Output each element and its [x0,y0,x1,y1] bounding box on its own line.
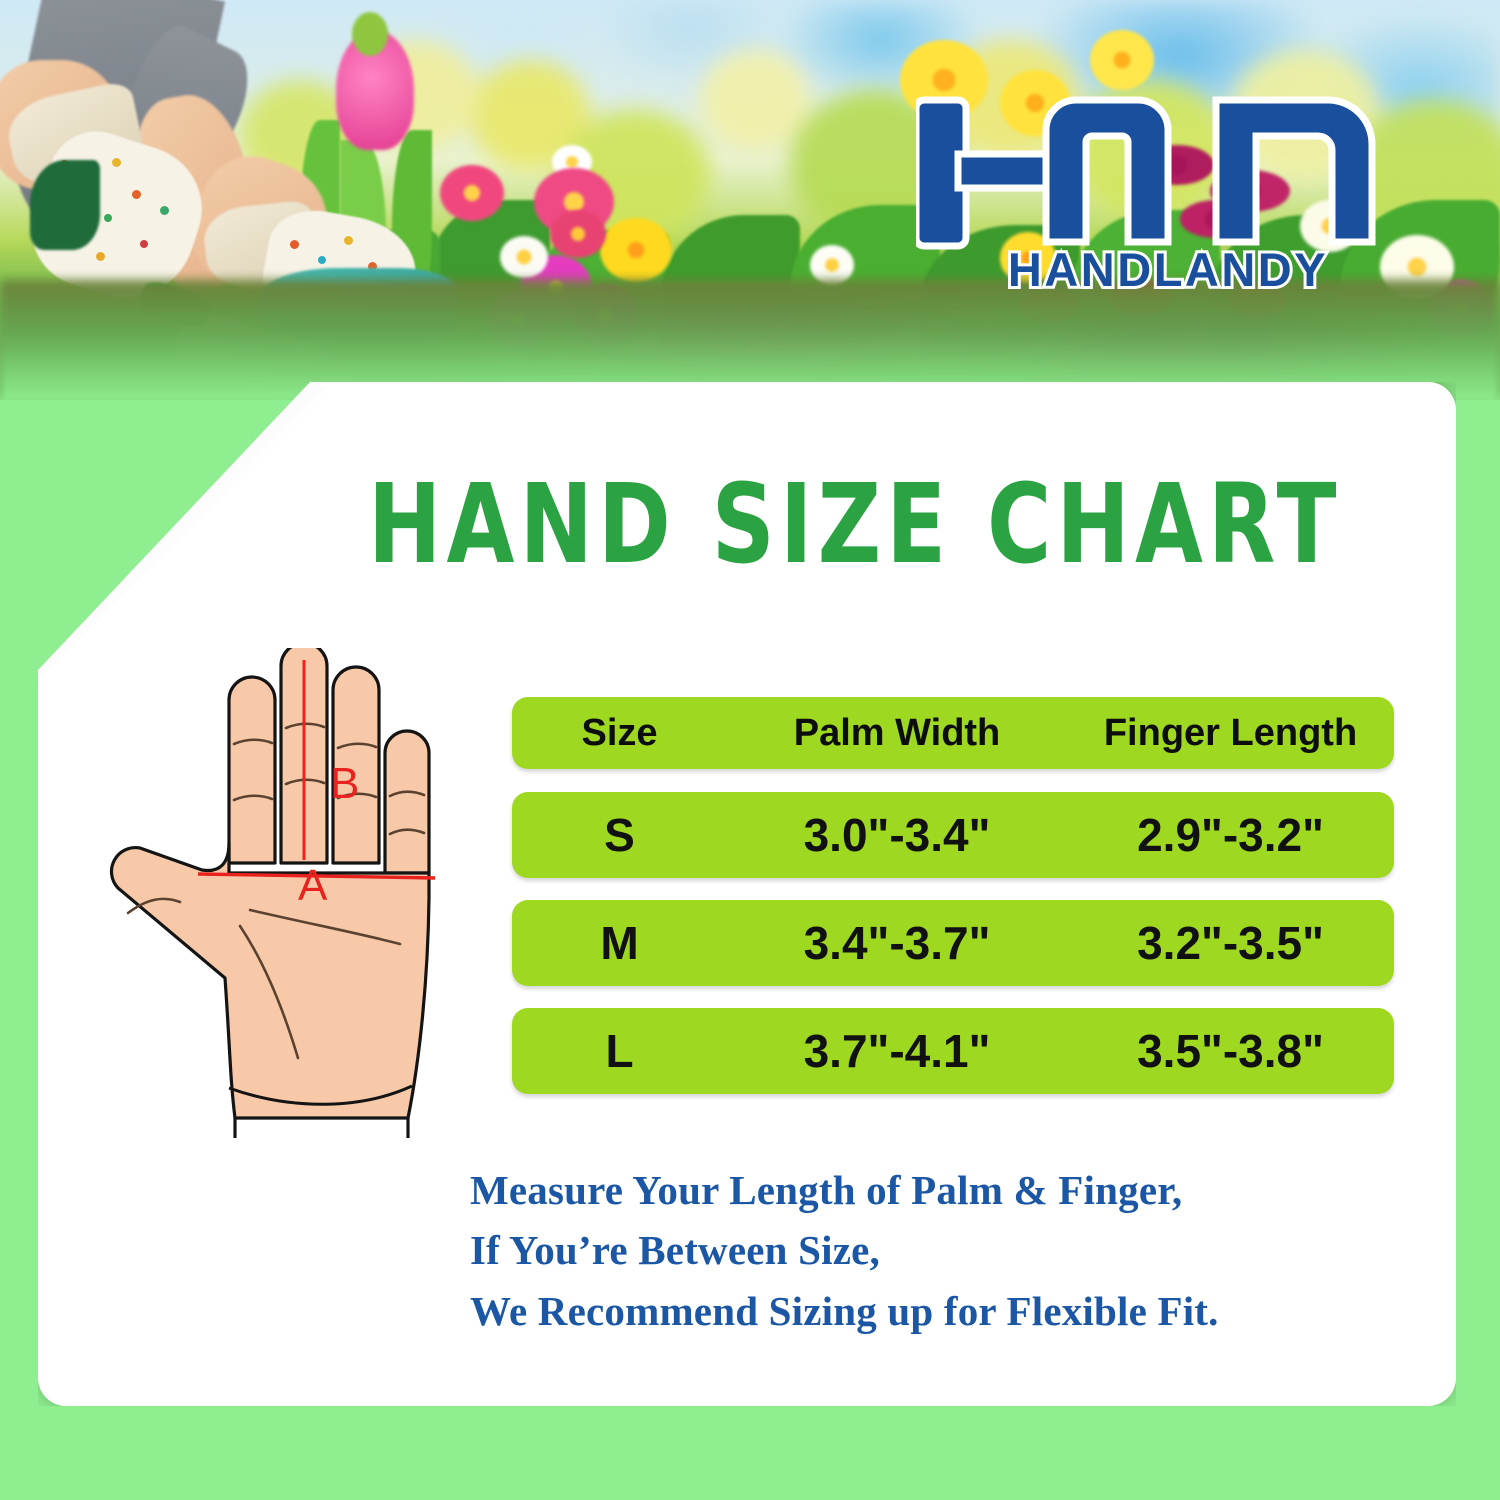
value-finger-length: 3.2"-3.5" [1137,917,1324,969]
sizing-advice-note: Measure Your Length of Palm & Finger, If… [470,1160,1420,1341]
cell-size: L [512,1024,727,1078]
size-chart-table: Size Palm Width Finger Length S 3.0"-3.4… [512,697,1394,1094]
value-size: L [605,1025,633,1077]
table-header-cell-palm-width: Palm Width [727,712,1067,755]
table-header-cell-size: Size [512,712,727,755]
hand-diagram-svg: B A [90,648,500,1138]
value-size: M [600,917,638,969]
table-header-row: Size Palm Width Finger Length [512,697,1394,769]
value-size: S [604,809,635,861]
value-palm-width: 3.7"-4.1" [804,1025,991,1077]
value-palm-width: 3.4"-3.7" [804,917,991,969]
cell-size: M [512,916,727,970]
finger-length-label: B [330,759,359,808]
logo-wordmark: HANDLANDY [1008,243,1328,292]
cell-size: S [512,808,727,862]
palm-width-label: A [298,861,328,910]
note-line-1: Measure Your Length of Palm & Finger, [470,1160,1420,1220]
table-row: L 3.7"-4.1" 3.5"-3.8" [512,1008,1394,1094]
cell-finger-length: 3.5"-3.8" [1067,1024,1394,1078]
logo-svg: HANDLANDY [916,92,1426,292]
table-header-cell-finger-length: Finger Length [1067,712,1394,755]
hand-silhouette-icon [111,648,429,1118]
page-root: HANDLANDY HAND SIZE CHART [0,0,1500,1500]
value-finger-length: 3.5"-3.8" [1137,1025,1324,1077]
handlandy-logo: HANDLANDY [916,92,1426,292]
header-label-palm-width: Palm Width [794,712,1001,754]
table-row: M 3.4"-3.7" 3.2"-3.5" [512,900,1394,986]
header-label-finger-length: Finger Length [1104,712,1357,754]
header-label-size: Size [581,712,657,754]
note-line-3: We Recommend Sizing up for Flexible Fit. [470,1281,1420,1341]
cell-finger-length: 3.2"-3.5" [1067,916,1394,970]
table-row: S 3.0"-3.4" 2.9"-3.2" [512,792,1394,878]
page-title: HAND SIZE CHART [368,470,1342,580]
value-palm-width: 3.0"-3.4" [804,809,991,861]
note-line-2: If You’re Between Size, [470,1220,1420,1280]
cell-palm-width: 3.4"-3.7" [727,916,1067,970]
hand-measurement-diagram: B A [90,648,500,1138]
cell-palm-width: 3.7"-4.1" [727,1024,1067,1078]
cell-finger-length: 2.9"-3.2" [1067,808,1394,862]
cell-palm-width: 3.0"-3.4" [727,808,1067,862]
logo-monogram-hd-icon [916,100,1372,246]
value-finger-length: 2.9"-3.2" [1137,809,1324,861]
grass-fade [0,274,1500,400]
